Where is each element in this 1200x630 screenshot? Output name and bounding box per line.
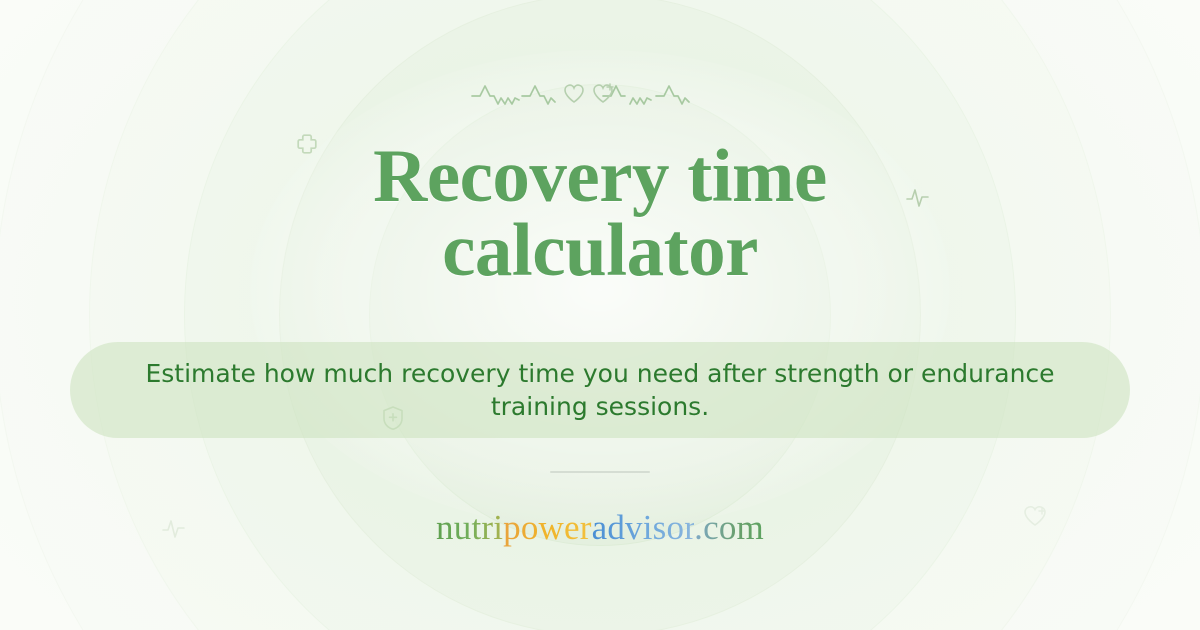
divider bbox=[550, 471, 650, 473]
logo-segment-advisor: advisor bbox=[592, 508, 695, 547]
logo-segment-nutri: nutri bbox=[436, 508, 503, 547]
subtitle-banner: Estimate how much recovery time you need… bbox=[70, 342, 1130, 438]
page-title-line-2: calculator bbox=[0, 214, 1200, 288]
page-title-line-1: Recovery time bbox=[373, 135, 827, 218]
card-content: Recovery time calculator Estimate how mu… bbox=[0, 0, 1200, 630]
logo-segment-power: power bbox=[503, 508, 591, 547]
share-card: Recovery time calculator Estimate how mu… bbox=[0, 0, 1200, 630]
site-logo: nutripoweradvisor.com bbox=[0, 508, 1200, 548]
logo-segment-tld: .com bbox=[694, 508, 764, 547]
page-title: Recovery time calculator bbox=[0, 140, 1200, 289]
subtitle-text: Estimate how much recovery time you need… bbox=[130, 357, 1070, 424]
